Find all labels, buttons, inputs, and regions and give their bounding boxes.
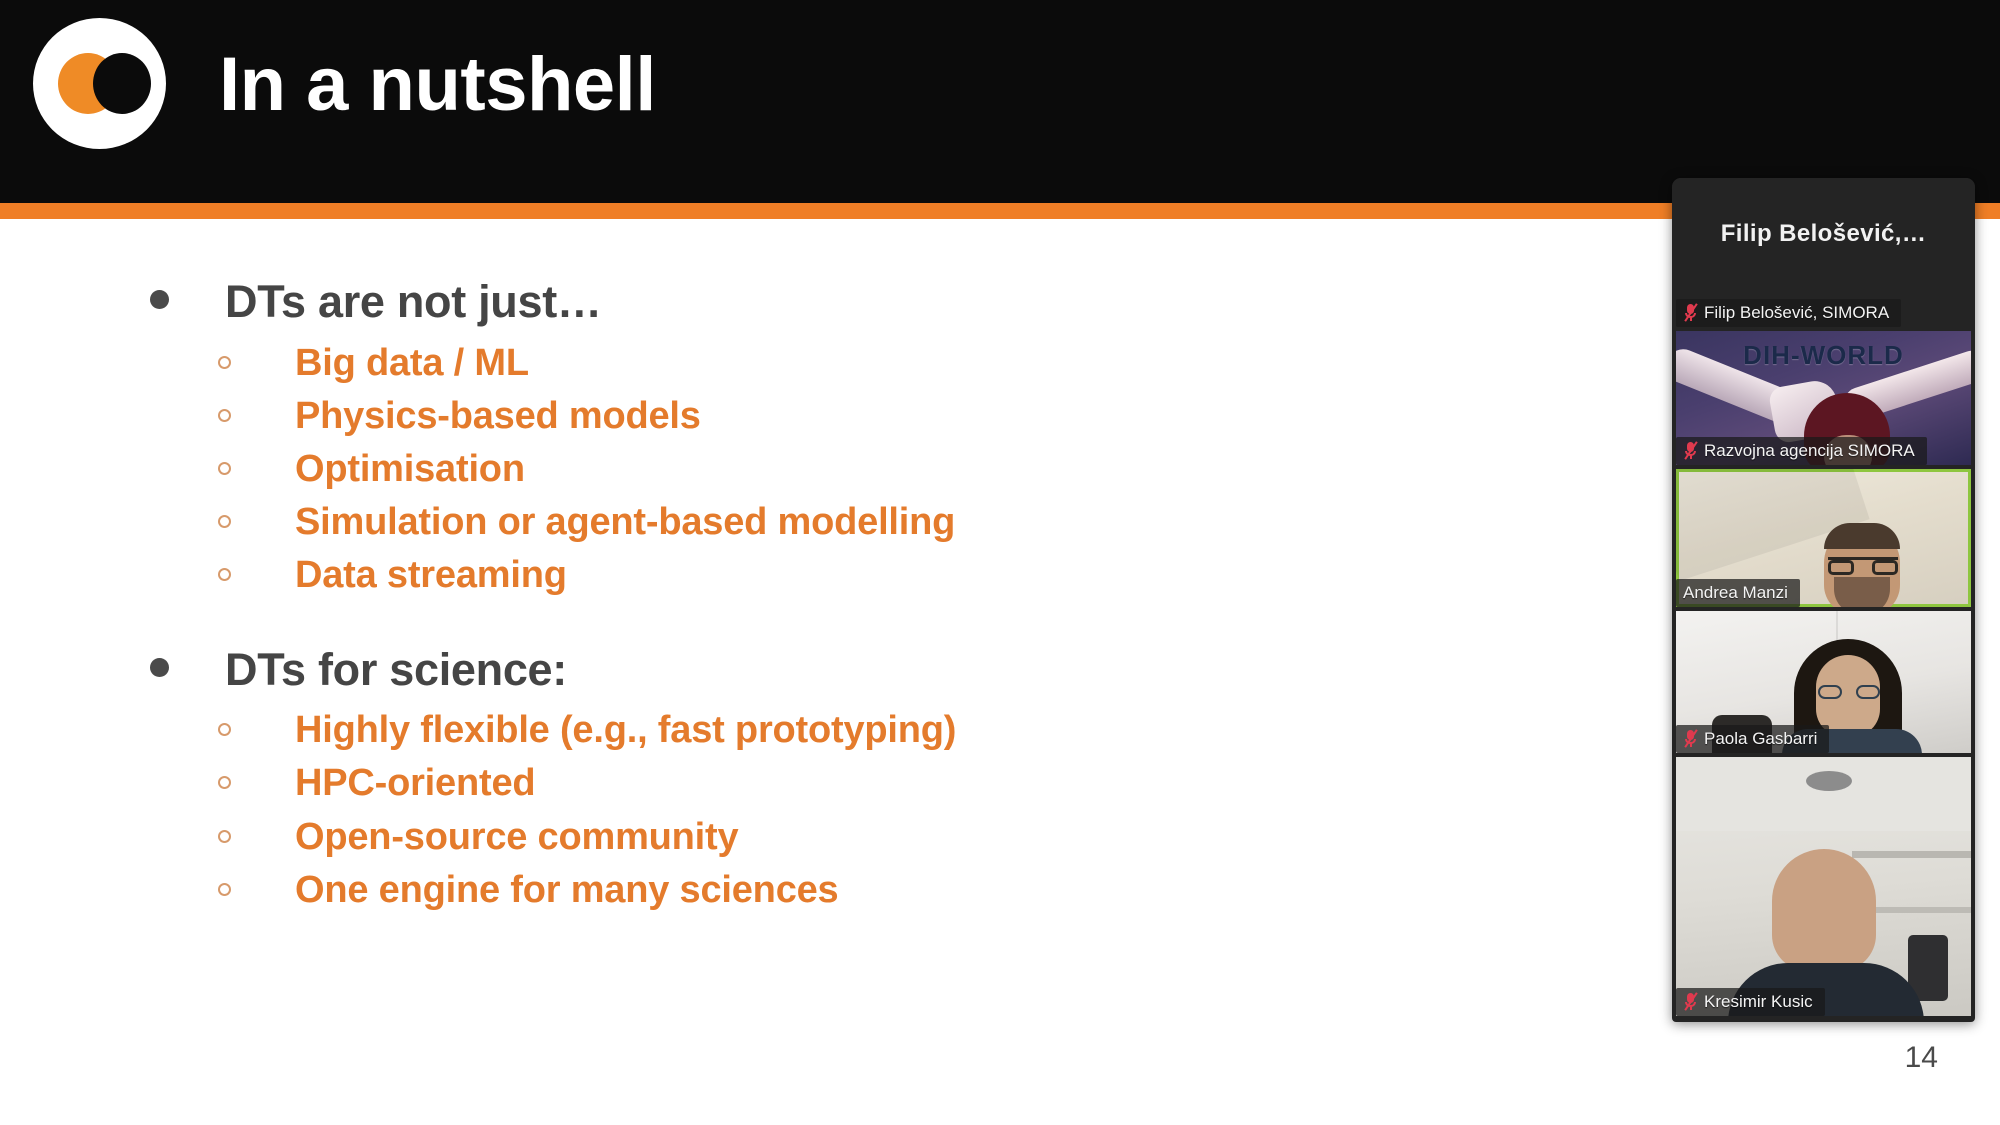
- mic-muted-icon: [1683, 992, 1698, 1010]
- list-item-label: Physics-based models: [295, 390, 701, 442]
- video-tile-razvojna-agencija[interactable]: DIH-WORLD Razvojna agencija SIMORA: [1672, 328, 1975, 468]
- list-item-label: Data streaming: [295, 549, 567, 601]
- list-item-label: HPC-oriented: [295, 757, 535, 809]
- participant-name-label: Razvojna agencija SIMORA: [1676, 437, 1927, 465]
- mic-muted-icon: [1683, 729, 1698, 747]
- list-item-label: One engine for many sciences: [295, 864, 839, 916]
- bullet-circle-icon: [218, 515, 295, 533]
- bullet-group: DTs for science: Highly flexible (e.g., …: [150, 641, 1600, 916]
- participant-name-label: Paola Gasbarri: [1676, 725, 1829, 753]
- list-item-label: Highly flexible (e.g., fast prototyping): [295, 704, 956, 756]
- list-item: Open-source community: [218, 811, 1600, 863]
- list-item: Big data / ML: [218, 337, 1600, 389]
- participant-name-text: Paola Gasbarri: [1704, 728, 1817, 749]
- mic-muted-icon: [1683, 303, 1698, 321]
- video-tile-andrea-manzi[interactable]: Andrea Manzi: [1672, 466, 1975, 610]
- bullet-heading-label: DTs are not just…: [225, 273, 602, 331]
- video-tile-filip[interactable]: Filip Belošević,… Filip Belošević, SIMOR…: [1672, 178, 1975, 330]
- list-item-label: Optimisation: [295, 443, 525, 495]
- logo-black-dot: [93, 53, 151, 114]
- ceiling-lamp: [1806, 771, 1852, 791]
- participant-glasses: [1818, 685, 1880, 699]
- list-item: One engine for many sciences: [218, 864, 1600, 916]
- bullet-list: DTs are not just… Big data / ML Physics-…: [150, 273, 1600, 917]
- bullet-circle-icon: [218, 356, 295, 374]
- list-item: Optimisation: [218, 443, 1600, 495]
- video-tile-paola-gasbarri[interactable]: Paola Gasbarri: [1672, 608, 1975, 756]
- slide-header: In a nutshell: [0, 0, 2000, 203]
- mic-muted-icon: [1683, 441, 1698, 459]
- list-item: Physics-based models: [218, 390, 1600, 442]
- participant-name-text: Filip Belošević, SIMORA: [1704, 302, 1889, 323]
- participant-hair: [1824, 523, 1900, 549]
- shelf: [1852, 851, 1971, 858]
- video-call-panel[interactable]: Filip Belošević,… Filip Belošević, SIMOR…: [1672, 178, 1975, 1022]
- participant-name-label: Kresimir Kusic: [1676, 988, 1825, 1016]
- page-title: In a nutshell: [219, 47, 656, 123]
- participant-name-text: Razvojna agencija SIMORA: [1704, 440, 1915, 461]
- video-tile-kresimir-kusic[interactable]: Kresimir Kusic: [1672, 754, 1975, 1019]
- bullet-dot-icon: [150, 647, 225, 683]
- list-item: Highly flexible (e.g., fast prototyping): [218, 704, 1600, 756]
- list-item: Data streaming: [218, 549, 1600, 601]
- list-item-label: Simulation or agent-based modelling: [295, 496, 955, 548]
- participant-name-label: Andrea Manzi: [1676, 579, 1800, 607]
- bullet-dot-icon: [150, 279, 225, 315]
- list-item-label: Big data / ML: [295, 337, 529, 389]
- participant-face: [1772, 849, 1876, 971]
- bullet-heading-label: DTs for science:: [225, 641, 567, 699]
- page-number: 14: [1905, 1043, 1938, 1073]
- bullet-heading: DTs for science:: [150, 641, 1600, 699]
- participant-name-text: Kresimir Kusic: [1704, 991, 1813, 1012]
- bullet-circle-icon: [218, 462, 295, 480]
- list-item: Simulation or agent-based modelling: [218, 496, 1600, 548]
- participant-name-text: Andrea Manzi: [1683, 582, 1788, 603]
- list-item-label: Open-source community: [295, 811, 738, 863]
- video-feed: [1676, 757, 1971, 1016]
- bullet-circle-icon: [218, 409, 295, 427]
- bullet-circle-icon: [218, 723, 295, 741]
- brand-logo-icon: [33, 18, 166, 149]
- ceiling: [1676, 757, 1971, 831]
- video-tile-placeholder-name: Filip Belošević,…: [1672, 220, 1975, 248]
- list-item: HPC-oriented: [218, 757, 1600, 809]
- bullet-heading: DTs are not just…: [150, 273, 1600, 331]
- bullet-group: DTs are not just… Big data / ML Physics-…: [150, 273, 1600, 601]
- shelf: [1866, 907, 1971, 913]
- bullet-circle-icon: [218, 776, 295, 794]
- participant-beard: [1834, 577, 1890, 607]
- bullet-circle-icon: [218, 568, 295, 586]
- participant-name-label: Filip Belošević, SIMORA: [1676, 299, 1901, 327]
- participant-glasses: [1828, 557, 1898, 572]
- bullet-circle-icon: [218, 830, 295, 848]
- bullet-circle-icon: [218, 883, 295, 901]
